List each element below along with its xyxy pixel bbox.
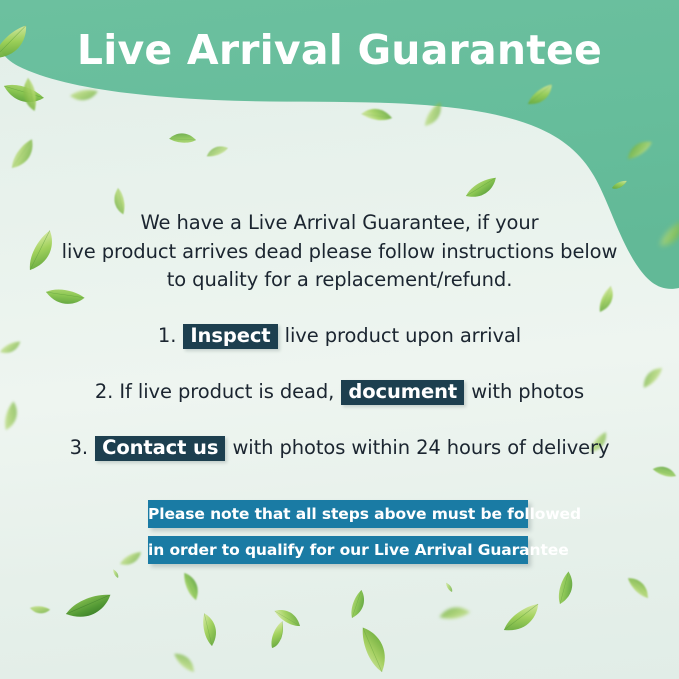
- step-2-highlight[interactable]: document: [341, 380, 464, 405]
- step-1-number: 1.: [158, 324, 176, 347]
- step-1-highlight[interactable]: Inspect: [183, 324, 277, 349]
- step-2-after: with photos: [471, 380, 584, 403]
- page-title: Live Arrival Guarantee: [0, 28, 679, 73]
- step-1: 1. Inspect live product upon arrival: [0, 324, 679, 349]
- step-3: 3. Contact us with photos within 24 hour…: [0, 436, 679, 461]
- intro-line-1: We have a Live Arrival Guarantee, if you…: [50, 209, 629, 238]
- note-banner-line-1: Please note that all steps above must be…: [148, 500, 528, 528]
- step-1-after: live product upon arrival: [285, 324, 521, 347]
- intro-line-2: live product arrives dead please follow …: [50, 238, 629, 267]
- step-3-number: 3.: [70, 436, 88, 459]
- poster-content: Live Arrival Guarantee We have a Live Ar…: [0, 0, 679, 679]
- step-2: 2. If live product is dead, document wit…: [0, 380, 679, 405]
- step-2-number: 2.: [95, 380, 113, 403]
- step-2-before: If live product is dead,: [119, 380, 334, 403]
- step-3-highlight[interactable]: Contact us: [95, 436, 225, 461]
- intro-paragraph: We have a Live Arrival Guarantee, if you…: [50, 209, 629, 295]
- live-arrival-guarantee-poster: Live Arrival Guarantee We have a Live Ar…: [0, 0, 679, 679]
- intro-line-3: to quality for a replacement/refund.: [50, 266, 629, 295]
- note-banner-line-2: in order to qualify for our Live Arrival…: [148, 536, 528, 564]
- step-3-after: with photos within 24 hours of delivery: [232, 436, 609, 459]
